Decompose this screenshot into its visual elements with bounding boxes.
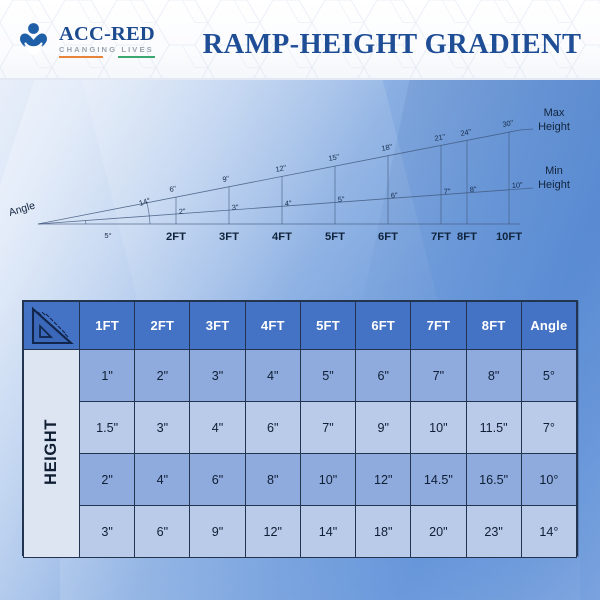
diagram-angle-caption: Angle xyxy=(7,199,36,218)
row-label-text: HEIGHT xyxy=(42,419,61,485)
column-header[interactable]: Angle xyxy=(521,302,576,350)
table-cell: 20" xyxy=(411,506,466,558)
column-header[interactable]: 6FT xyxy=(356,302,411,350)
logo-text-block: ACC-RED CHANGING LIVES xyxy=(59,24,155,58)
header-divider xyxy=(0,78,600,80)
svg-text:6": 6" xyxy=(169,184,178,194)
table-cell: 11.5" xyxy=(466,402,521,454)
svg-text:4FT: 4FT xyxy=(272,231,292,243)
logo-underline-green xyxy=(118,56,154,58)
table-cell: 7° xyxy=(521,402,576,454)
logo-name: ACC-RED xyxy=(59,24,155,45)
column-header[interactable]: 3FT xyxy=(190,302,245,350)
diagram-max-extension xyxy=(520,129,533,130)
table-cell: 6" xyxy=(190,454,245,506)
table-cell: 14° xyxy=(521,506,576,558)
svg-text:9": 9" xyxy=(222,174,231,184)
table-header: 1FT 2FT 3FT 4FT 5FT 6FT 7FT 8FT Angle xyxy=(24,302,577,350)
ramp-height-table: 1FT 2FT 3FT 4FT 5FT 6FT 7FT 8FT Angle HE… xyxy=(22,300,578,556)
svg-text:Height: Height xyxy=(538,121,570,133)
logo-tagline-row: CHANGING LIVES xyxy=(59,46,155,54)
diagram-upper-angle-label: 14° xyxy=(138,196,152,208)
logo-underline xyxy=(59,56,155,58)
svg-text:12": 12" xyxy=(275,163,288,174)
svg-text:3FT: 3FT xyxy=(219,231,239,243)
table-cell: 4" xyxy=(190,402,245,454)
table-cell: 8" xyxy=(466,350,521,402)
column-header[interactable]: 2FT xyxy=(135,302,190,350)
svg-text:30": 30" xyxy=(502,118,515,129)
svg-text:Height: Height xyxy=(538,179,570,191)
table-cell: 3" xyxy=(80,506,135,558)
logo-tagline: CHANGING LIVES xyxy=(59,46,154,54)
svg-text:10FT: 10FT xyxy=(496,231,522,243)
table-cell: 16.5" xyxy=(466,454,521,506)
table-cell: 7" xyxy=(300,402,355,454)
column-header[interactable]: 7FT xyxy=(411,302,466,350)
page-header: ACC-RED CHANGING LIVES RAMP-HEIGHT GRADI… xyxy=(0,0,600,80)
table-cell: 10" xyxy=(300,454,355,506)
table-cell: 10° xyxy=(521,454,576,506)
table-cell: 14" xyxy=(300,506,355,558)
svg-text:3": 3" xyxy=(232,203,240,212)
column-header[interactable]: 1FT xyxy=(80,302,135,350)
table-body: HEIGHT 1" 2" 3" 4" 5" 6" 7" 8" 5° 1.5" 3… xyxy=(24,350,577,558)
diagram-angle-arc-5 xyxy=(85,221,86,225)
person-heart-icon xyxy=(16,22,52,60)
table-cell: 4" xyxy=(245,350,300,402)
svg-text:2": 2" xyxy=(179,207,187,216)
table-cell: 3" xyxy=(190,350,245,402)
svg-text:15": 15" xyxy=(328,152,341,163)
table-cell: 8" xyxy=(245,454,300,506)
svg-text:5": 5" xyxy=(338,195,346,204)
svg-text:5FT: 5FT xyxy=(325,231,345,243)
table-cell: 2" xyxy=(135,350,190,402)
table-cell: 5° xyxy=(521,350,576,402)
table-cell: 12" xyxy=(245,506,300,558)
table-cell: 23" xyxy=(466,506,521,558)
table-row: HEIGHT 1" 2" 3" 4" 5" 6" 7" 8" 5° xyxy=(24,350,577,402)
table-cell: 4" xyxy=(135,454,190,506)
table-corner-cell xyxy=(24,302,80,350)
table-cell: 14.5" xyxy=(411,454,466,506)
table-cell: 10" xyxy=(411,402,466,454)
svg-text:8FT: 8FT xyxy=(457,231,477,243)
table-cell: 7" xyxy=(411,350,466,402)
table-cell: 9" xyxy=(356,402,411,454)
svg-text:21": 21" xyxy=(434,132,447,143)
page-title: RAMP-HEIGHT GRADIENT xyxy=(196,25,588,65)
ramp-height-grid: 1FT 2FT 3FT 4FT 5FT 6FT 7FT 8FT Angle HE… xyxy=(23,301,577,558)
table-row: 3" 6" 9" 12" 14" 18" 20" 23" 14° xyxy=(24,506,577,558)
brand-logo[interactable]: ACC-RED CHANGING LIVES xyxy=(16,22,155,60)
row-label-cell: HEIGHT xyxy=(24,350,80,558)
table-cell: 12" xyxy=(356,454,411,506)
svg-text:Max: Max xyxy=(544,107,565,119)
logo-underline-orange xyxy=(59,56,103,58)
table-row: 1.5" 3" 4" 6" 7" 9" 10" 11.5" 7° xyxy=(24,402,577,454)
column-header[interactable]: 4FT xyxy=(245,302,300,350)
table-cell: 9" xyxy=(190,506,245,558)
table-cell: 6" xyxy=(356,350,411,402)
diagram-upper-values: 6" 9" 12" 15" 18" 21" 24" 30" xyxy=(169,118,515,194)
svg-text:24": 24" xyxy=(460,127,473,138)
table-cell: 18" xyxy=(356,506,411,558)
table-cell: 1.5" xyxy=(80,402,135,454)
poster-canvas: ACC-RED CHANGING LIVES RAMP-HEIGHT GRADI… xyxy=(0,0,600,600)
diagram-axis-labels: 2FT 3FT 4FT 5FT 6FT 7FT 8FT 10FT xyxy=(166,231,522,243)
table-cell: 1" xyxy=(80,350,135,402)
diagram-side-labels: Max Height Min Height xyxy=(538,107,570,191)
table-cell: 6" xyxy=(245,402,300,454)
diagram-lower-angle-label: 5° xyxy=(104,231,111,240)
column-header[interactable]: 8FT xyxy=(466,302,521,350)
table-cell: 3" xyxy=(135,402,190,454)
table-row: 2" 4" 6" 8" 10" 12" 14.5" 16.5" 10° xyxy=(24,454,577,506)
svg-text:7FT: 7FT xyxy=(431,231,451,243)
svg-text:6FT: 6FT xyxy=(378,231,398,243)
svg-text:Min: Min xyxy=(545,165,563,177)
column-header[interactable]: 5FT xyxy=(300,302,355,350)
svg-text:2FT: 2FT xyxy=(166,231,186,243)
ramp-diagram-svg: 6" 9" 12" 15" 18" 21" 24" 30" 2" 3" 4" 5… xyxy=(0,82,600,272)
svg-text:4": 4" xyxy=(285,199,293,208)
table-header-row: 1FT 2FT 3FT 4FT 5FT 6FT 7FT 8FT Angle xyxy=(24,302,577,350)
diagram-lower-values: 2" 3" 4" 5" 6" 7" 8" 10" xyxy=(179,180,524,216)
table-cell: 2" xyxy=(80,454,135,506)
table-cell: 5" xyxy=(300,350,355,402)
logo-underline-gap xyxy=(103,56,118,58)
table-cell: 6" xyxy=(135,506,190,558)
svg-text:8": 8" xyxy=(470,185,478,194)
svg-text:6": 6" xyxy=(391,191,399,200)
svg-text:10": 10" xyxy=(512,180,524,190)
ramp-gradient-diagram: 6" 9" 12" 15" 18" 21" 24" 30" 2" 3" 4" 5… xyxy=(0,82,600,272)
svg-text:18": 18" xyxy=(381,142,394,153)
diagram-max-height-line xyxy=(38,130,520,224)
set-square-ruler-icon xyxy=(30,306,74,346)
svg-text:7": 7" xyxy=(444,187,452,196)
